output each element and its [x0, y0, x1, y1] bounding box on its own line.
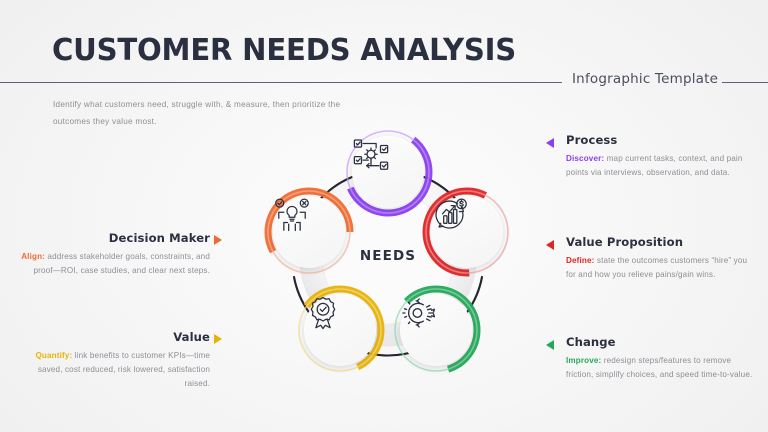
node-decision-maker[interactable] [273, 196, 345, 268]
block-text-decision-maker: address stakeholder goals, constraints, … [33, 252, 210, 275]
block-keyword-change: Improve: [566, 356, 601, 365]
arrow-decision-maker [214, 235, 222, 245]
arrow-value [214, 334, 222, 344]
needs-circular-diagram: NEEDS [256, 126, 520, 390]
text-block-value: Value Quantify: link benefits to custome… [20, 330, 210, 391]
text-block-process: Process Discover: map current tasks, con… [566, 133, 756, 180]
page-title: CUSTOMER NEEDS ANALYSIS [52, 33, 516, 68]
node-change[interactable] [400, 294, 472, 366]
block-heading-value-proposition: Value Proposition [566, 235, 756, 249]
block-keyword-decision-maker: Align: [21, 252, 45, 261]
growth-chart-dollar-icon [431, 196, 469, 234]
block-body-value: Quantify: link benefits to customer KPIs… [20, 349, 210, 391]
text-block-decision-maker: Decision Maker Align: address stakeholde… [20, 231, 210, 278]
node-value[interactable] [304, 294, 376, 366]
header-rule-left [0, 82, 562, 83]
block-body-decision-maker: Align: address stakeholder goals, constr… [20, 250, 210, 278]
block-body-process: Discover: map current tasks, context, an… [566, 152, 756, 180]
infographic-slide: CUSTOMER NEEDS ANALYSIS Infographic Temp… [0, 0, 768, 432]
block-heading-decision-maker: Decision Maker [20, 231, 210, 245]
block-heading-value: Value [20, 330, 210, 344]
template-label: Infographic Template [572, 71, 718, 87]
arrow-process [546, 138, 554, 148]
node-value-proposition[interactable] [431, 196, 503, 268]
block-keyword-value-proposition: Define: [566, 256, 594, 265]
block-keyword-process: Discover: [566, 154, 604, 163]
arrow-change [546, 340, 554, 350]
node-process[interactable] [352, 136, 424, 208]
block-heading-process: Process [566, 133, 756, 147]
award-badge-check-icon [304, 294, 342, 332]
gear-refresh-icon [400, 294, 438, 332]
arrow-value-proposition [546, 240, 554, 250]
block-text-value-proposition: state the outcomes customers “hire” you … [566, 256, 747, 279]
text-block-value-proposition: Value Proposition Define: state the outc… [566, 235, 756, 282]
text-block-change: Change Improve: redesign steps/features … [566, 335, 756, 382]
header-rule-right [722, 82, 768, 83]
block-body-change: Improve: redesign steps/features to remo… [566, 354, 756, 382]
person-lightbulb-decision-icon [273, 196, 311, 234]
block-body-value-proposition: Define: state the outcomes customers “hi… [566, 254, 756, 282]
block-keyword-value: Quantify: [35, 351, 72, 360]
process-flow-gear-icon [352, 136, 390, 174]
block-heading-change: Change [566, 335, 756, 349]
